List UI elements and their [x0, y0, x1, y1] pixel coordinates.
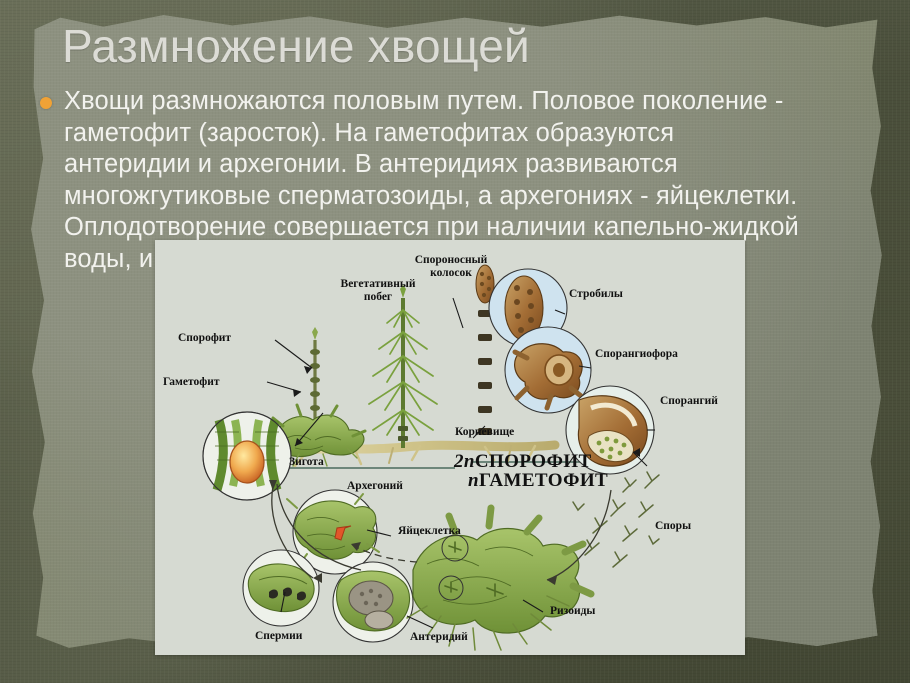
label-archegonium: Архегоний [347, 480, 403, 493]
label-antheridium: Антеридий [410, 631, 468, 644]
label-zygote: Зигота [289, 456, 324, 469]
diagram-illustration [155, 240, 745, 655]
label-vegetative-shoot-line1: Вегетативный [323, 278, 433, 291]
bullet-dot-icon [40, 97, 52, 109]
label-sporophyte: Спорофит [178, 332, 231, 345]
label-sporangiophore: Спорангиофора [595, 348, 678, 361]
phase-label-gametophyte: nГАМЕТОФИТ [468, 470, 608, 492]
sperm-inset-illustration [243, 550, 319, 626]
label-gametophyte: Гаметофит [163, 376, 219, 389]
label-sperm: Спермии [255, 630, 302, 643]
label-spore-bearing-spike-line2: колосок [395, 267, 507, 280]
label-strobili: Стробилы [569, 288, 623, 301]
slide-title: Размножение хвощей [62, 22, 530, 70]
ploidy-n: n [468, 470, 479, 491]
body-line-4: многожгутиковые сперматозоиды, а архегон… [64, 181, 799, 213]
body-line-3: антеридии и архегонии. В антеридиях разв… [64, 149, 799, 181]
label-rhizoids: Ризоиды [550, 605, 595, 618]
body-line-5: Оплодотворение совершается при наличии к… [64, 212, 799, 244]
label-vegetative-shoot-line2: побег [323, 291, 433, 304]
vegetative-shoot-illustration [369, 285, 437, 448]
horsetail-life-cycle-diagram: Спорофит Гаметофит Зигота Вегетативный п… [155, 240, 745, 655]
phase-text-sporophyte: СПОРОФИТ [475, 451, 592, 472]
label-spores: Споры [655, 520, 691, 533]
ploidy-2n: 2n [454, 451, 475, 472]
label-egg-cell: Яйцеклетка [398, 525, 461, 538]
phase-text-gametophyte: ГАМЕТОФИТ [479, 470, 608, 491]
presentation-slide: Размножение хвощей Хвощи размножаются по… [0, 0, 910, 683]
label-spore-bearing-spike-line1: Спороносный [395, 254, 507, 267]
label-rhizome: Корневище [455, 426, 514, 439]
antheridium-inset-illustration [333, 562, 413, 642]
body-line-1: Хвощи размножаются половым путем. Полово… [64, 86, 799, 118]
body-line-2: гаметофит (заросток). На гаметофитах обр… [64, 118, 799, 150]
label-sporangium: Спорангий [660, 395, 718, 408]
spore-bearing-shoot-illustration [476, 265, 494, 446]
